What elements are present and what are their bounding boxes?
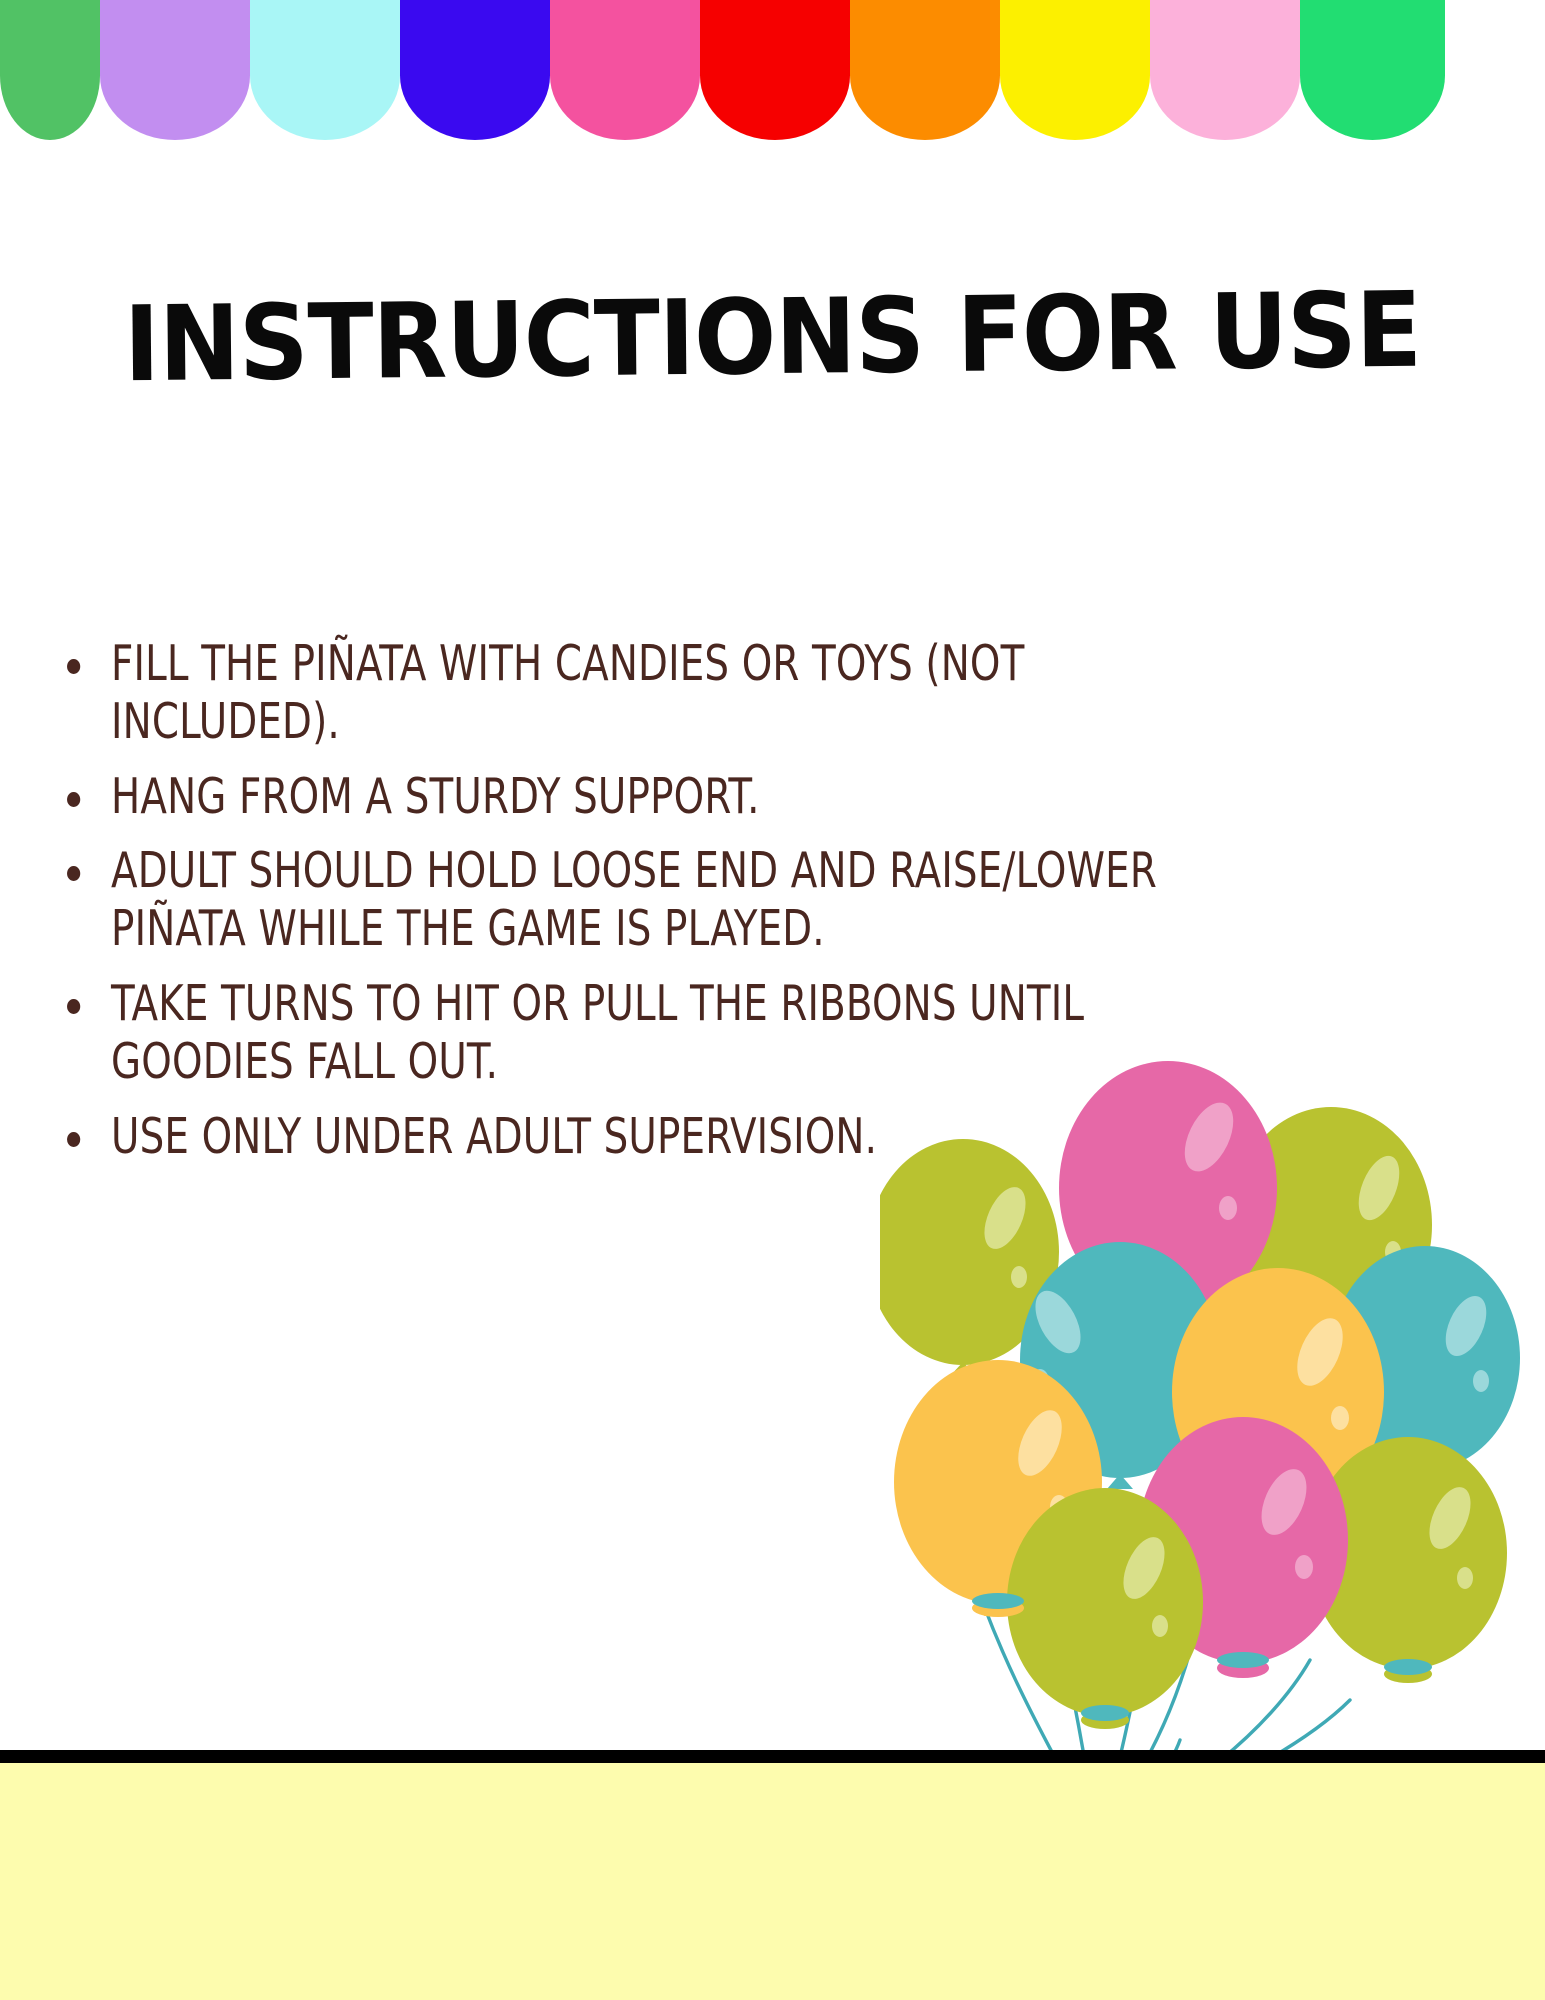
instruction-item: ADULT SHOULD HOLD LOOSE END AND RAISE/LO… <box>60 842 1230 958</box>
scallop-6 <box>850 0 1000 140</box>
scallop-9 <box>1300 0 1445 140</box>
balloon-yellow-center <box>1172 1268 1384 1527</box>
footer-yellow-band <box>0 1763 1545 2000</box>
scallop-8 <box>1150 0 1300 140</box>
scallop-0 <box>0 0 100 140</box>
instruction-item: FILL THE PIÑATA WITH CANDIES OR TOYS (NO… <box>60 635 1230 751</box>
page-title: INSTRUCTIONS FOR USE <box>123 277 1421 396</box>
scallop-4 <box>550 0 700 140</box>
instruction-item: USE ONLY UNDER ADULT SUPERVISION. <box>60 1108 1230 1166</box>
balloon-teal-left <box>1020 1242 1220 1489</box>
balloon-yellow-left <box>894 1360 1102 1616</box>
instruction-item: TAKE TURNS TO HIT OR PULL THE RIBBONS UN… <box>60 975 1230 1091</box>
balloon-pink-front <box>1138 1417 1348 1674</box>
scallop-5 <box>700 0 850 140</box>
scallop-2 <box>250 0 400 140</box>
title-block: INSTRUCTIONS FOR USE <box>0 215 1545 458</box>
balloon-knots <box>972 1593 1432 1729</box>
balloon-olive-front-center <box>1007 1488 1203 1727</box>
instruction-item: HANG FROM A STURDY SUPPORT. <box>60 768 1230 826</box>
scalloped-banner <box>0 0 1545 145</box>
scallop-3 <box>400 0 550 140</box>
balloon-teal-right <box>1330 1246 1520 1480</box>
scallop-7 <box>1000 0 1150 140</box>
instruction-list: FILL THE PIÑATA WITH CANDIES OR TOYS (NO… <box>60 635 1390 1183</box>
balloon-olive-front-right <box>1309 1437 1507 1680</box>
scallop-1 <box>100 0 250 140</box>
footer-divider-rule <box>0 1750 1545 1763</box>
